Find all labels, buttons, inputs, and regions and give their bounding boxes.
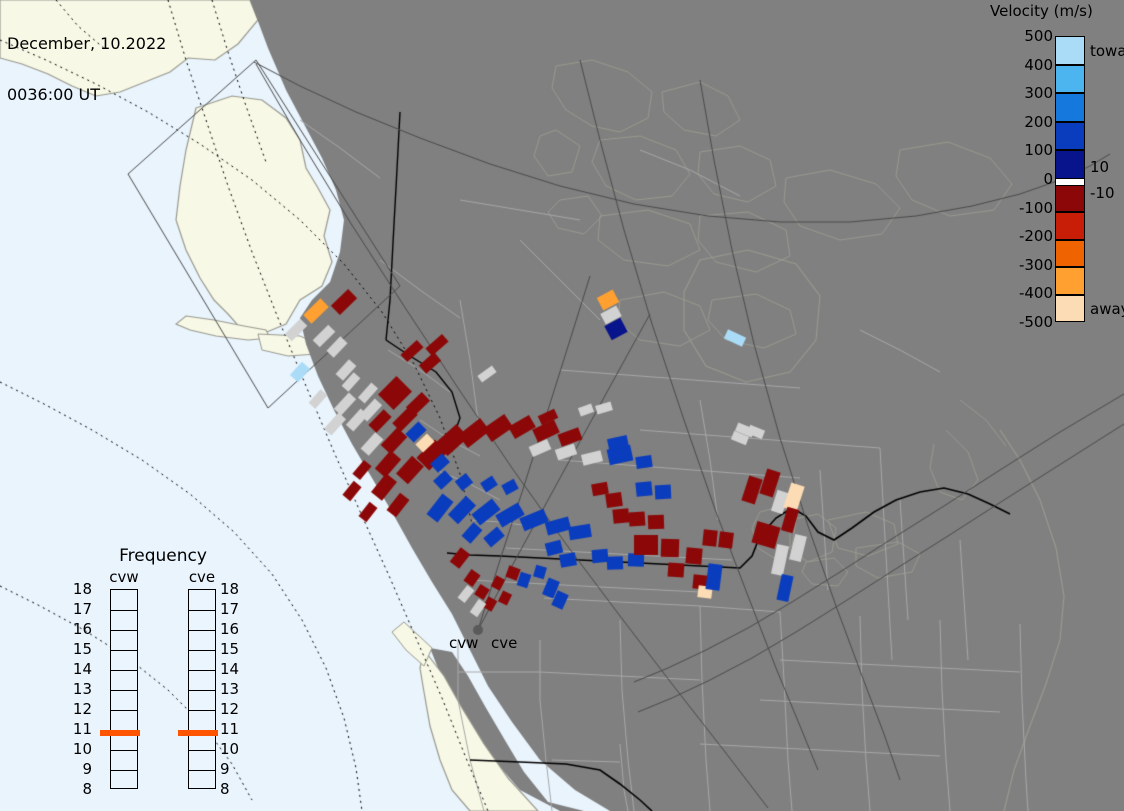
frequency-bar-tick — [189, 650, 215, 651]
frequency-marker-cvw — [100, 730, 140, 736]
frequency-bar — [188, 589, 216, 789]
frequency-bar-tick — [189, 690, 215, 691]
timestamp-time: 0036:00 UT — [7, 86, 166, 103]
frequency-tick-label: 8 — [66, 782, 92, 797]
frequency-tick-label: 8 — [220, 782, 230, 797]
frequency-bar-tick — [189, 750, 215, 751]
timestamp: December, 10.2022 0036:00 UT — [7, 1, 166, 137]
frequency-tick-label: 16 — [220, 622, 239, 637]
colorbar-toward-label: toward — [1090, 44, 1124, 59]
colorbar-tick-label: -300 — [993, 258, 1053, 273]
frequency-bar-tick — [189, 710, 215, 711]
frequency-bar-tick — [111, 670, 137, 671]
frequency-tick-label: 11 — [220, 722, 239, 737]
frequency-tick-label: 11 — [66, 722, 92, 737]
colorbar-band — [1055, 150, 1085, 179]
frequency-tick-label: 18 — [66, 582, 92, 597]
colorbar-title: Velocity (m/s) — [990, 2, 1124, 20]
frequency-tick-label: 9 — [220, 762, 230, 777]
frequency-tick-label: 10 — [220, 742, 239, 757]
velocity-colorbar: Velocity (m/s) 5004003002001000-100-200-… — [990, 0, 1124, 340]
colorbar-tick-label: -400 — [993, 286, 1053, 301]
colorbar-tick-label: -200 — [993, 229, 1053, 244]
frequency-tick-label: 18 — [220, 582, 239, 597]
radar-site-label-cve: cve — [491, 636, 517, 651]
frequency-tick-label: 15 — [220, 642, 239, 657]
colorbar-band — [1055, 212, 1085, 239]
frequency-bar — [110, 589, 138, 789]
frequency-bar-tick — [111, 690, 137, 691]
frequency-tick-label: 13 — [220, 682, 239, 697]
timestamp-date: December, 10.2022 — [7, 35, 166, 52]
colorbar-band — [1055, 122, 1085, 151]
frequency-radar-name: cvw — [94, 568, 154, 586]
frequency-bar-tick — [189, 610, 215, 611]
frequency-tick-label: 13 — [66, 682, 92, 697]
frequency-legend: Frequency cvw18171615141312111098cve1817… — [88, 546, 238, 796]
frequency-marker-cve — [178, 730, 218, 736]
colorbar-tick-label: 0 — [993, 172, 1053, 187]
colorbar-tick-label: -500 — [993, 315, 1053, 330]
frequency-bar-tick — [189, 670, 215, 671]
frequency-tick-label: 12 — [220, 702, 239, 717]
frequency-bar-tick — [111, 610, 137, 611]
colorbar-positive-threshold-label: 10 — [1090, 160, 1109, 175]
frequency-bar-tick — [111, 750, 137, 751]
frequency-bar-tick — [189, 630, 215, 631]
colorbar-tick-label: 100 — [993, 143, 1053, 158]
colorbar-tick-label: 200 — [993, 115, 1053, 130]
radar-velocity-plot: December, 10.2022 0036:00 UT Velocity (m… — [0, 0, 1124, 811]
frequency-bar-tick — [111, 630, 137, 631]
frequency-tick-label: 9 — [66, 762, 92, 777]
frequency-bar-tick — [111, 770, 137, 771]
colorbar-tick-label: 300 — [993, 86, 1053, 101]
colorbar-tick-label: 400 — [993, 58, 1053, 73]
frequency-tick-label: 14 — [66, 662, 92, 677]
frequency-tick-label: 17 — [66, 602, 92, 617]
frequency-tick-label: 15 — [66, 642, 92, 657]
radar-site-label-cvw: cvw — [449, 636, 478, 651]
colorbar-band — [1055, 295, 1085, 322]
colorbar-band — [1055, 93, 1085, 122]
colorbar-tick-label: -100 — [993, 201, 1053, 216]
frequency-bar-tick — [111, 710, 137, 711]
colorbar-tick-label: 500 — [993, 29, 1053, 44]
colorbar-band — [1055, 36, 1085, 65]
colorbar-band — [1055, 185, 1085, 212]
colorbar-away-label: away — [1090, 302, 1124, 317]
colorbar-band — [1055, 240, 1085, 267]
frequency-tick-label: 10 — [66, 742, 92, 757]
colorbar-band — [1055, 65, 1085, 94]
frequency-bar-tick — [111, 650, 137, 651]
frequency-legend-title: Frequency — [88, 546, 238, 566]
frequency-tick-label: 12 — [66, 702, 92, 717]
frequency-tick-label: 17 — [220, 602, 239, 617]
frequency-tick-label: 16 — [66, 622, 92, 637]
frequency-bar-tick — [189, 770, 215, 771]
colorbar-negative-threshold-label: -10 — [1090, 186, 1115, 201]
frequency-tick-label: 14 — [220, 662, 239, 677]
colorbar-band — [1055, 267, 1085, 294]
